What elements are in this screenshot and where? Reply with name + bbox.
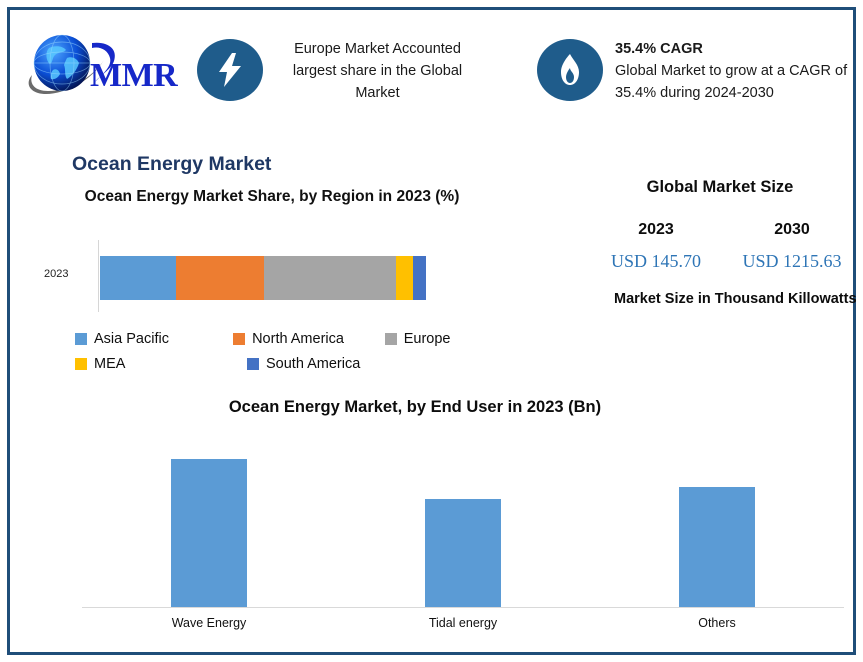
mmr-logo: MMR <box>22 28 202 108</box>
legend-item-south-america: South America <box>247 356 412 372</box>
legend-swatch-europe <box>385 333 397 345</box>
region-share-chart: Ocean Energy Market Share, by Region in … <box>30 186 500 386</box>
legend-swatch-asia-pacific <box>75 333 87 345</box>
end-user-bars <box>82 434 844 607</box>
header-stat-europe-text: Europe Market Accounted largest share in… <box>275 36 480 105</box>
legend-label-south-america: South America <box>266 356 360 372</box>
market-size-value-2030: USD 1215.63 <box>724 251 860 272</box>
end-user-bar-others <box>679 487 755 607</box>
page-title: Ocean Energy Market <box>72 153 271 176</box>
stacked-segment-north-america <box>176 256 264 300</box>
legend-label-north-america: North America <box>252 331 344 347</box>
stacked-segment-south-america <box>413 256 426 300</box>
header-stat-cagr-headline: 35.4% CAGR <box>615 38 850 60</box>
end-user-axis-baseline <box>82 607 844 608</box>
end-user-chart: Ocean Energy Market, by End User in 2023… <box>20 398 850 648</box>
market-size-column-2023: 2023 USD 145.70 <box>588 221 724 272</box>
region-share-plot-area <box>98 240 429 312</box>
global-market-size-title: Global Market Size <box>588 178 860 197</box>
market-size-value-2023: USD 145.70 <box>588 251 724 272</box>
end-user-bar-wave-energy <box>171 459 247 607</box>
market-size-year-2023: 2023 <box>588 221 724 239</box>
legend-swatch-north-america <box>233 333 245 345</box>
market-size-year-2030: 2030 <box>724 221 860 239</box>
end-user-plot-area <box>82 434 844 608</box>
legend-item-mea: MEA <box>75 356 247 372</box>
end-user-label-others: Others <box>590 616 844 630</box>
end-user-category-labels: Wave Energy Tidal energy Others <box>82 616 844 630</box>
header-stat-cagr: 35.4% CAGR Global Market to grow at a CA… <box>537 36 857 105</box>
end-user-label-tidal-energy: Tidal energy <box>336 616 590 630</box>
legend-item-north-america: North America <box>233 331 385 347</box>
legend-swatch-mea <box>75 358 87 370</box>
market-size-column-2030: 2030 USD 1215.63 <box>724 221 860 272</box>
legend-swatch-south-america <box>247 358 259 370</box>
stacked-segment-asia-pacific <box>100 256 176 300</box>
end-user-chart-title: Ocean Energy Market, by End User in 2023… <box>20 398 850 417</box>
end-user-bar-tidal-energy <box>425 499 501 607</box>
stacked-segment-europe <box>264 256 396 300</box>
stacked-bar <box>100 256 426 300</box>
end-user-slot-tidal-energy <box>336 434 590 607</box>
infographic-frame: MMR Europe Market Accounted largest shar… <box>7 7 856 655</box>
legend-label-europe: Europe <box>404 331 451 347</box>
legend-row-top: Asia Pacific North America Europe <box>75 326 495 351</box>
header-stat-cagr-detail: Global Market to grow at a CAGR of 35.4%… <box>615 63 847 101</box>
end-user-label-wave-energy: Wave Energy <box>82 616 336 630</box>
region-share-chart-title: Ocean Energy Market Share, by Region in … <box>82 186 462 208</box>
legend-label-mea: MEA <box>94 356 125 372</box>
header-stat-europe: Europe Market Accounted largest share in… <box>197 36 517 105</box>
stacked-segment-mea <box>396 256 413 300</box>
lightning-bolt-icon <box>217 53 243 87</box>
legend-item-asia-pacific: Asia Pacific <box>75 331 233 347</box>
header: MMR Europe Market Accounted largest shar… <box>10 10 853 128</box>
lightning-bolt-icon-circle <box>197 39 263 101</box>
region-share-axis-tick-2023: 2023 <box>44 268 68 280</box>
global-market-size-values: 2023 USD 145.70 2030 USD 1215.63 <box>588 221 860 272</box>
infographic-page: MMR Europe Market Accounted largest shar… <box>0 0 863 662</box>
legend-item-europe: Europe <box>385 331 495 347</box>
global-market-size-panel: Global Market Size 2023 USD 145.70 2030 … <box>588 178 860 311</box>
logo-wordmark: MMR <box>90 57 177 95</box>
legend-label-asia-pacific: Asia Pacific <box>94 331 169 347</box>
end-user-slot-others <box>590 434 844 607</box>
globe-icon <box>33 34 91 92</box>
header-stat-cagr-text: 35.4% CAGR Global Market to grow at a CA… <box>615 36 850 105</box>
market-size-unit-note: Market Size in Thousand Killowatts <box>588 289 860 311</box>
flame-icon <box>558 54 582 86</box>
end-user-slot-wave-energy <box>82 434 336 607</box>
region-share-legend: Asia Pacific North America Europe MEA <box>75 326 495 376</box>
legend-row-bottom: MEA South America <box>75 351 495 376</box>
flame-icon-circle <box>537 39 603 101</box>
